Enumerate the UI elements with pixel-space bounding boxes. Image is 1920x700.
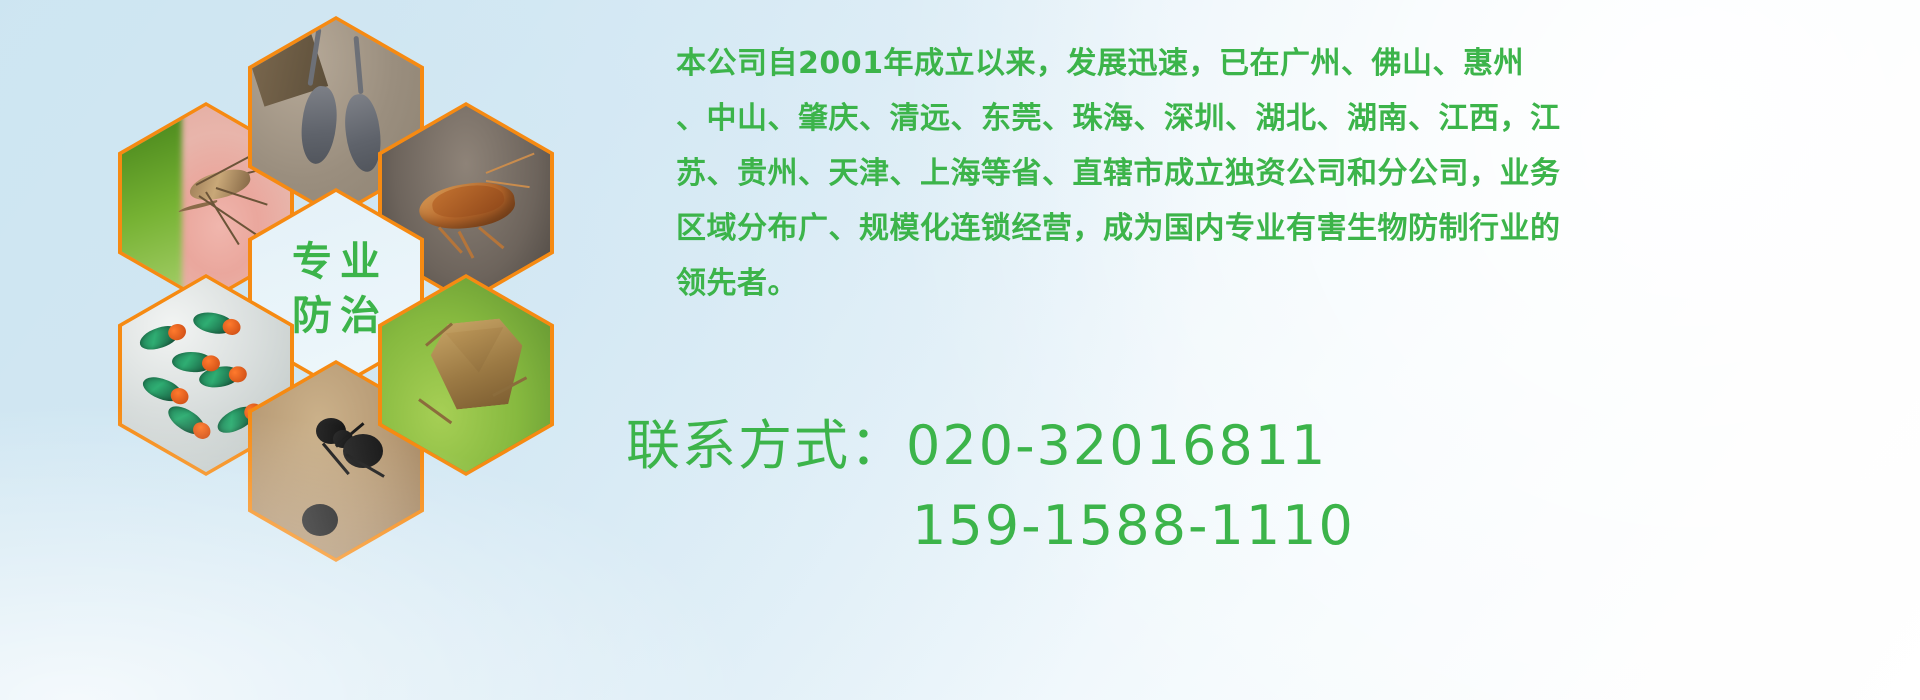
hexagon-photo-cluster: 专业 防治 [88, 0, 608, 572]
company-intro-block: 本公司自2001年成立以来，发展迅速，已在广州、佛山、惠州 、中山、肇庆、清远、… [612, 36, 1908, 311]
intro-line: 苏、贵州、天津、上海等省、直辖市成立独资公司和分公司，业务 [612, 146, 1908, 201]
intro-line: 区域分布广、规模化连锁经营，成为国内专业有害生物防制行业的 [612, 201, 1908, 256]
company-intro-paragraph: 本公司自2001年成立以来，发展迅速，已在广州、佛山、惠州 、中山、肇庆、清远、… [612, 36, 1908, 311]
intro-line: 、中山、肇庆、清远、东莞、珠海、深圳、湖北、湖南、江西，江 [612, 91, 1908, 146]
pest-control-banner: 专业 防治 [0, 0, 1920, 700]
intro-line: 领先者。 [612, 256, 1908, 311]
center-label-line-1: 专业 [284, 235, 388, 289]
contact-phone-mobile[interactable]: 159-1588-1110 [612, 486, 1912, 566]
center-label-line-2: 防治 [284, 289, 388, 343]
contact-block: 联系方式：020-32016811 159-1588-1110 [612, 406, 1912, 566]
contact-phone-landline[interactable]: 联系方式：020-32016811 [612, 406, 1912, 486]
intro-line: 本公司自2001年成立以来，发展迅速，已在广州、佛山、惠州 [612, 36, 1908, 91]
